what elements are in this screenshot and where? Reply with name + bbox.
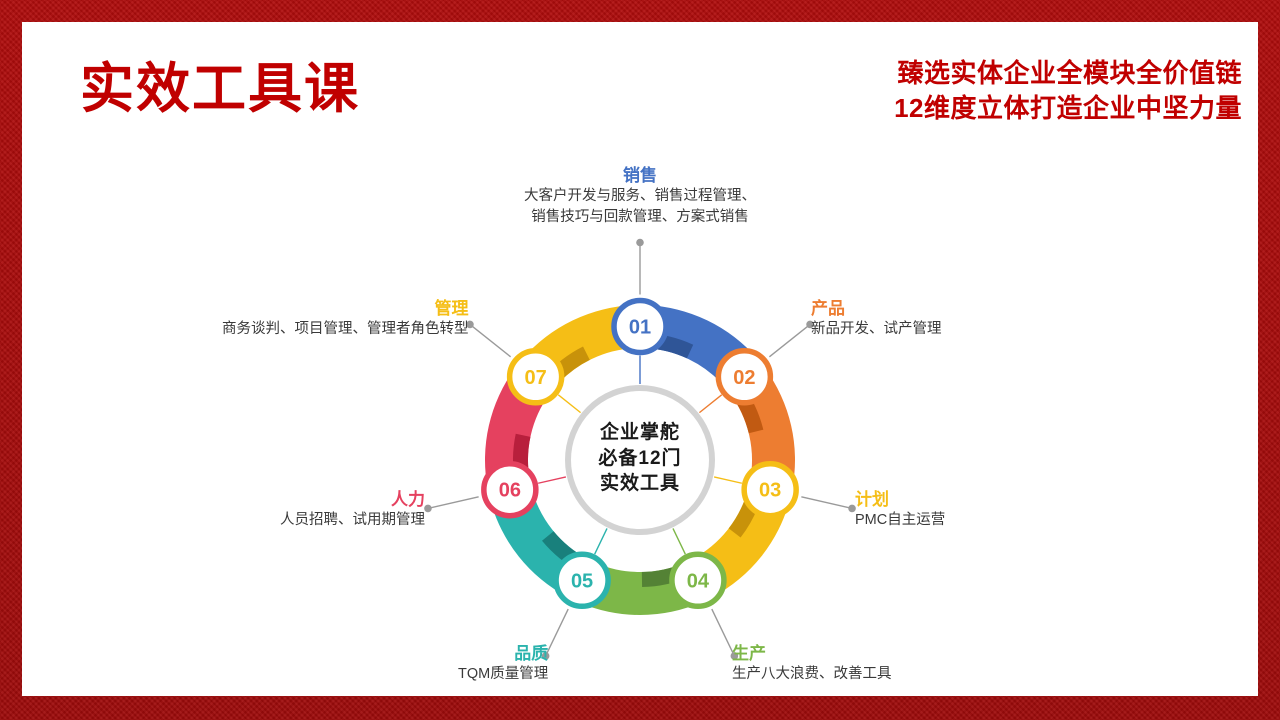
center-line-2: 必备12门: [555, 446, 725, 472]
leader-line-03: [801, 497, 852, 509]
annotation-title: 产品: [811, 298, 942, 319]
annotation-desc-1: 生产八大浪费、改善工具: [732, 664, 892, 685]
node-number-05: 05: [571, 570, 593, 592]
node-07[interactable]: 07: [510, 351, 562, 403]
annotation-desc-1: PMC自主运营: [855, 510, 945, 531]
center-label: 企业掌舵 必备12门 实效工具: [555, 420, 725, 497]
annotation-desc-1: 商务谈判、项目管理、管理者角色转型: [222, 319, 469, 340]
leader-dot-01: [636, 239, 644, 247]
center-line-1: 企业掌舵: [555, 420, 725, 446]
annotation-05-quality: 品质 TQM质量管理: [458, 643, 548, 685]
leader-line-05: [546, 609, 569, 656]
annotation-title: 计划: [855, 489, 945, 510]
spoke-04: [673, 528, 685, 554]
annotation-title: 品质: [458, 643, 548, 664]
donut-wheel: 01020304050607: [22, 22, 1258, 696]
annotation-title: 生产: [732, 643, 892, 664]
annotation-desc-1: 大客户开发与服务、销售过程管理、: [524, 186, 756, 207]
annotation-03-plan: 计划 PMC自主运营: [855, 489, 945, 531]
annotation-07-management: 管理 商务谈判、项目管理、管理者角色转型: [222, 298, 469, 340]
spoke-02: [699, 395, 721, 413]
spoke-05: [595, 528, 607, 554]
node-01[interactable]: 01: [614, 301, 666, 353]
annotation-desc-1: TQM质量管理: [458, 664, 548, 685]
node-number-03: 03: [759, 480, 781, 502]
slide-canvas: 实效工具课 臻选实体企业全模块全价值链 12维度立体打造企业中坚力量 01020…: [22, 22, 1258, 696]
node-04[interactable]: 04: [672, 554, 724, 606]
leader-dot-06: [424, 505, 432, 513]
annotation-title: 人力: [280, 489, 425, 510]
leader-line-07: [470, 324, 511, 356]
node-02[interactable]: 02: [718, 351, 770, 403]
annotation-desc-2: 销售技巧与回款管理、方案式销售: [524, 207, 756, 228]
node-number-04: 04: [687, 570, 710, 592]
node-05[interactable]: 05: [556, 554, 608, 606]
annotation-desc-1: 新品开发、试产管理: [811, 319, 942, 340]
annotation-04-production: 生产 生产八大浪费、改善工具: [732, 643, 892, 685]
node-number-01: 01: [629, 317, 651, 339]
slide-frame: 实效工具课 臻选实体企业全模块全价值链 12维度立体打造企业中坚力量 01020…: [0, 0, 1280, 720]
annotation-title: 销售: [524, 165, 756, 186]
annotation-01-sales: 销售 大客户开发与服务、销售过程管理、 销售技巧与回款管理、方案式销售: [524, 165, 756, 228]
leader-line-02: [769, 324, 810, 356]
node-number-06: 06: [499, 480, 521, 502]
node-03[interactable]: 03: [744, 464, 796, 516]
center-line-3: 实效工具: [555, 471, 725, 497]
annotation-desc-1: 人员招聘、试用期管理: [280, 510, 425, 531]
annotation-06-hr: 人力 人员招聘、试用期管理: [280, 489, 425, 531]
leader-line-06: [428, 497, 479, 509]
leader-line-04: [712, 609, 735, 656]
spoke-07: [558, 395, 580, 413]
node-06[interactable]: 06: [484, 464, 536, 516]
annotation-02-product: 产品 新品开发、试产管理: [811, 298, 942, 340]
node-number-07: 07: [525, 367, 547, 389]
annotation-title: 管理: [222, 298, 469, 319]
node-number-02: 02: [733, 367, 755, 389]
cycle-diagram: 01020304050607 企业掌舵 必备12门 实效工具 销售 大客户开发与…: [22, 22, 1258, 696]
